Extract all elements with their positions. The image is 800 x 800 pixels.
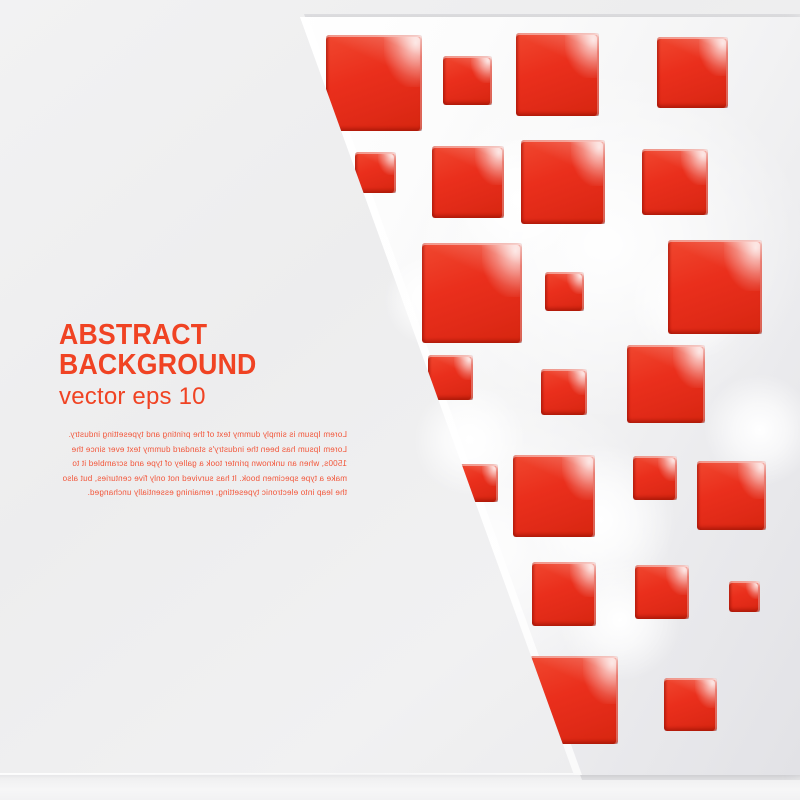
red-square-face <box>355 152 396 193</box>
red-square-face <box>627 345 705 423</box>
red-square-face <box>513 455 595 537</box>
red-square <box>545 272 584 311</box>
red-square-face <box>532 562 596 626</box>
red-square-face <box>633 456 677 500</box>
red-square <box>355 152 396 193</box>
red-square-face <box>697 461 766 530</box>
red-square-face <box>521 140 605 224</box>
red-square-face <box>635 565 689 619</box>
body-paragraph: Lorem Ipsum is simply dummy text of the … <box>59 428 347 501</box>
artwork-canvas: ABSTRACT BACKGROUND vector eps 10 Lorem … <box>0 0 800 800</box>
red-square <box>664 678 717 731</box>
page-title-line-2: BACKGROUND <box>59 350 326 380</box>
red-square <box>642 149 708 215</box>
red-square <box>627 345 705 423</box>
red-square-face <box>443 56 492 105</box>
red-square-face <box>541 369 587 415</box>
red-square <box>532 562 596 626</box>
red-square-face <box>729 581 760 612</box>
red-square-face <box>664 678 717 731</box>
red-square <box>541 369 587 415</box>
page-title-line-1: ABSTRACT <box>59 320 326 350</box>
red-square-face <box>668 240 762 334</box>
red-square-face <box>530 656 618 744</box>
red-square-face <box>460 464 498 502</box>
red-square <box>635 565 689 619</box>
red-square <box>422 243 522 343</box>
text-block: ABSTRACT BACKGROUND vector eps 10 Lorem … <box>59 320 349 501</box>
red-square <box>633 456 677 500</box>
red-square <box>530 656 618 744</box>
red-square-face <box>428 355 473 400</box>
page-subtitle: vector eps 10 <box>59 380 349 414</box>
red-square-face <box>326 35 422 131</box>
red-square <box>668 240 762 334</box>
red-square-face <box>657 37 728 108</box>
red-square <box>443 56 492 105</box>
red-square <box>460 464 498 502</box>
red-square <box>657 37 728 108</box>
red-square-face <box>545 272 584 311</box>
red-square <box>326 35 422 131</box>
red-square-face <box>642 149 708 215</box>
red-square <box>729 581 760 612</box>
red-square-face <box>516 33 599 116</box>
red-square <box>521 140 605 224</box>
red-square-face <box>422 243 522 343</box>
red-square <box>428 355 473 400</box>
red-square <box>516 33 599 116</box>
red-square <box>513 455 595 537</box>
red-square-face <box>432 146 504 218</box>
red-square <box>432 146 504 218</box>
red-square <box>697 461 766 530</box>
